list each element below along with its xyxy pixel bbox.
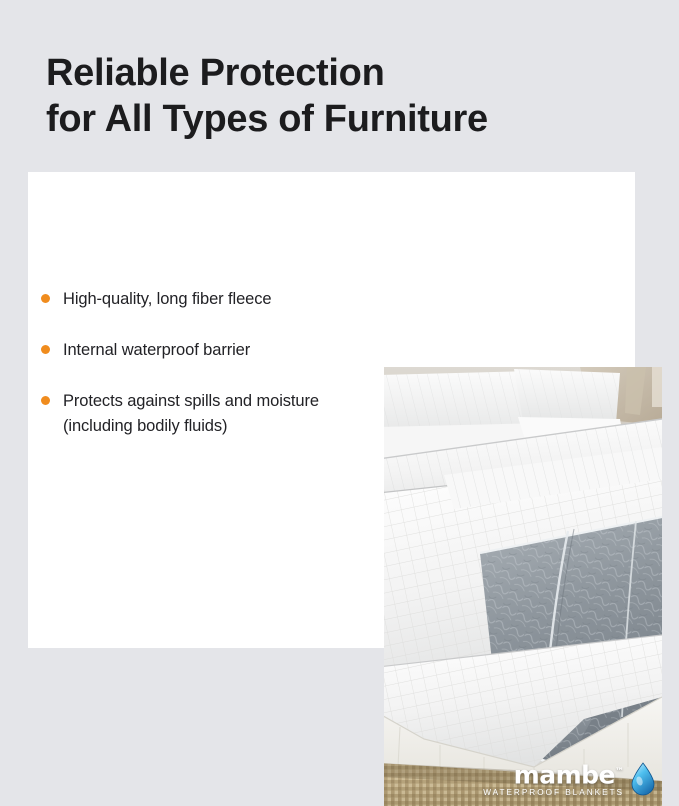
marketing-infographic-page: { "background_color": "#e4e5e9", "headin… (0, 0, 679, 678)
page-title-line-2: for All Types of Furniture (46, 96, 646, 142)
feature-text: High-quality, long fiber fleece (63, 287, 271, 312)
page-title-line-1: Reliable Protection (46, 50, 646, 96)
product-photo-illustration (384, 367, 662, 806)
brand-tagline: WATERPROOF BLANKETS (481, 787, 624, 798)
bullet-dot-icon (41, 294, 50, 303)
list-item: Internal waterproof barrier (41, 338, 351, 363)
water-droplet-icon (630, 762, 656, 796)
brand-logo: mambe™ WATERPROOF BLANKETS (481, 760, 656, 798)
feature-text: Internal waterproof barrier (63, 338, 250, 363)
bullet-dot-icon (41, 396, 50, 405)
list-item: Protects against spills and moisture (in… (41, 389, 351, 439)
brand-wordmark-label: mambe (514, 760, 615, 789)
feature-list: High-quality, long fiber fleece Internal… (41, 287, 351, 465)
feature-text: Protects against spills and moisture (in… (63, 389, 351, 439)
page-title: Reliable Protection for All Types of Fur… (46, 50, 646, 142)
list-item: High-quality, long fiber fleece (41, 287, 351, 312)
content-card: High-quality, long fiber fleece Internal… (28, 172, 635, 648)
bullet-dot-icon (41, 345, 50, 354)
brand-logo-text: mambe™ WATERPROOF BLANKETS (481, 760, 624, 798)
brand-wordmark: mambe™ (481, 760, 624, 787)
trademark-symbol: ™ (615, 767, 624, 777)
product-photo: mambe™ WATERPROOF BLANKETS (384, 367, 662, 806)
